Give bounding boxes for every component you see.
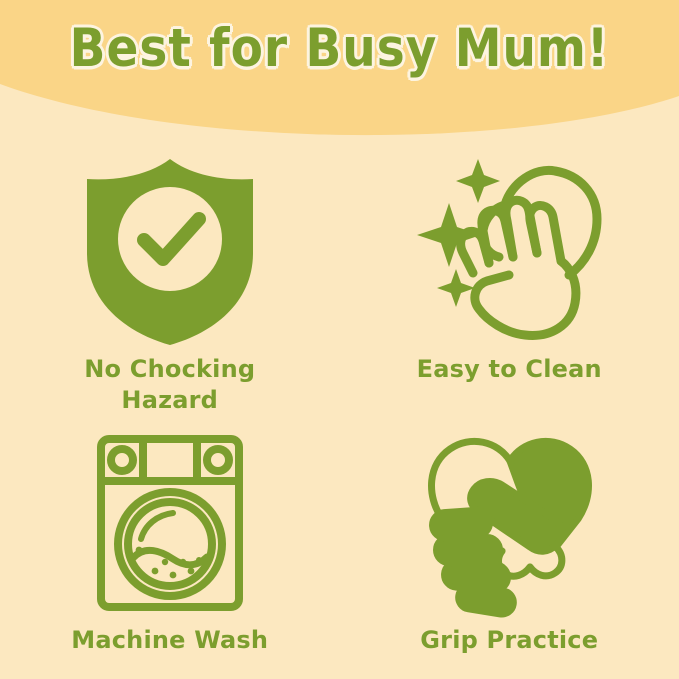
shield-check-icon [70, 154, 270, 350]
feature-item-easy-to-clean: Easy to Clean [340, 140, 679, 415]
feature-label: Grip Practice [420, 625, 598, 656]
feature-item-machine-wash: Machine Wash [0, 415, 340, 679]
feature-label: No Chocking Hazard [45, 354, 295, 415]
handshake-heart-icon [409, 425, 609, 621]
feature-label: Machine Wash [71, 625, 268, 656]
page-title: Best for Busy Mum! [0, 18, 679, 80]
washing-machine-icon [70, 425, 270, 621]
feature-grid: No Chocking Hazard [0, 140, 679, 679]
feature-label: Easy to Clean [417, 354, 602, 385]
feature-item-no-chocking-hazard: No Chocking Hazard [0, 140, 340, 415]
infographic-card: Best for Busy Mum! No Chocking Hazard [0, 0, 679, 679]
hand-wipe-sparkle-icon [409, 154, 609, 350]
feature-item-grip-practice: Grip Practice [340, 415, 679, 679]
